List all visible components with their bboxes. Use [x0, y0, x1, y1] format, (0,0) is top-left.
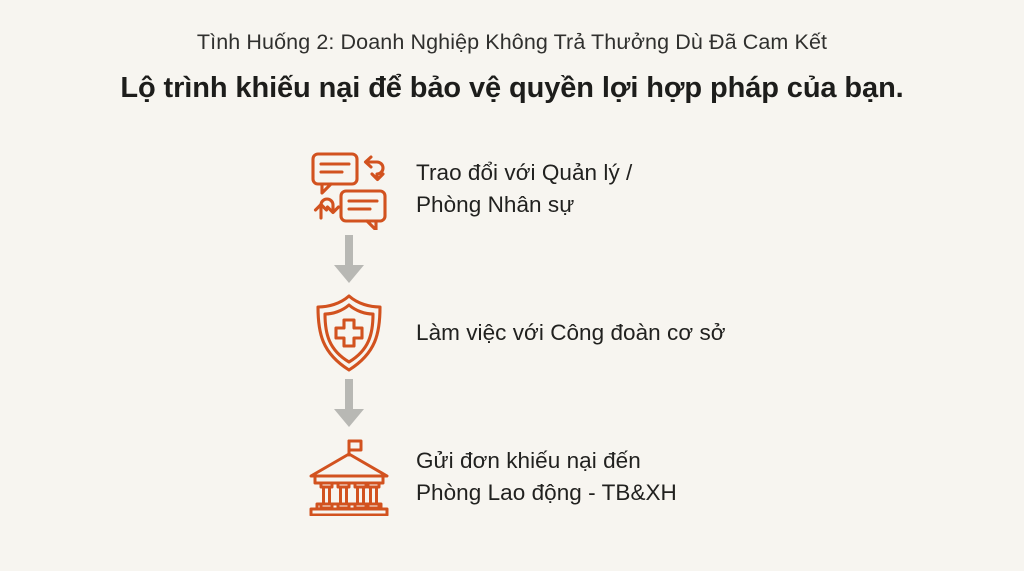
- flow-connector-1: [306, 232, 392, 288]
- arrow-down-icon: [331, 379, 367, 429]
- flow-connector-2: [306, 376, 392, 432]
- flow-step-2-label: Làm việc với Công đoàn cơ sở: [416, 317, 726, 349]
- flow-step-1-label: Trao đổi với Quản lý / Phòng Nhân sự: [416, 157, 632, 221]
- process-flow: Trao đổi với Quản lý / Phòng Nhân sự Làm: [306, 146, 866, 520]
- flow-step-3-label: Gửi đơn khiếu nại đến Phòng Lao động - T…: [416, 445, 677, 509]
- slide-subtitle: Tình Huống 2: Doanh Nghiệp Không Trả Thư…: [0, 30, 1024, 56]
- flow-step-2: Làm việc với Công đoàn cơ sở: [306, 290, 866, 376]
- arrow-down-icon: [331, 235, 367, 285]
- flow-step-3: Gửi đơn khiếu nại đến Phòng Lao động - T…: [306, 434, 866, 520]
- shield-cross-icon: [306, 290, 392, 376]
- chat-exchange-icon: [306, 146, 392, 232]
- slide-header: Tình Huống 2: Doanh Nghiệp Không Trả Thư…: [0, 30, 1024, 106]
- page-title: Lộ trình khiếu nại để bảo vệ quyền lợi h…: [0, 70, 1024, 106]
- slide-canvas: Tình Huống 2: Doanh Nghiệp Không Trả Thư…: [0, 0, 1024, 571]
- government-building-icon: [306, 434, 392, 520]
- flow-step-1: Trao đổi với Quản lý / Phòng Nhân sự: [306, 146, 866, 232]
